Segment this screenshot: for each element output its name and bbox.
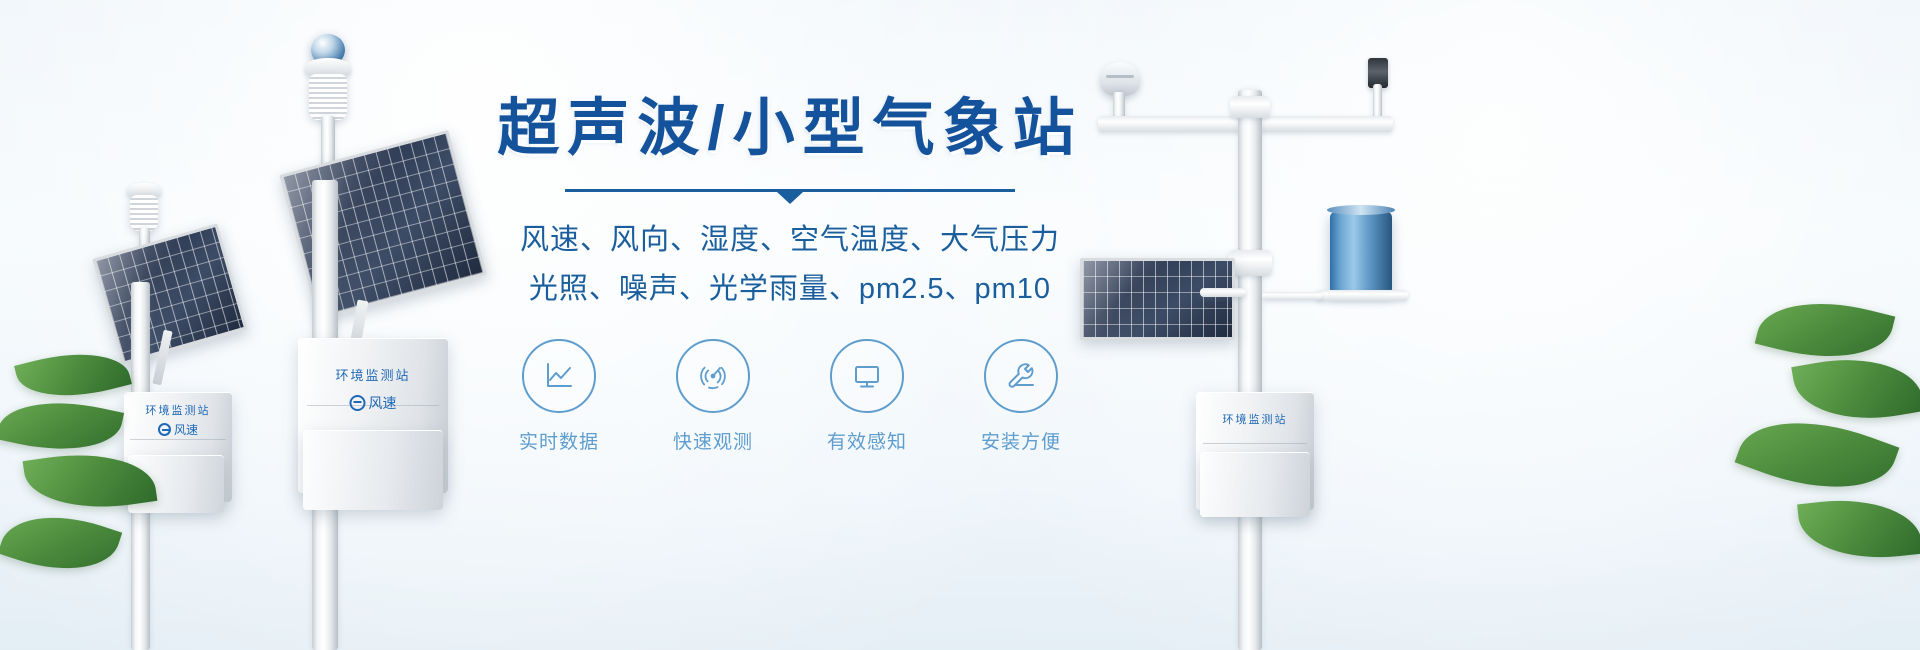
cabinet-seam	[1203, 443, 1307, 444]
feature-item-effective-sensing[interactable]: 有效感知	[811, 339, 923, 454]
ultrasonic-wind-sensor-right	[1100, 62, 1140, 96]
line-chart-icon	[541, 358, 577, 394]
subtitle-line-1: 风速、风向、湿度、空气温度、大气压力	[440, 217, 1140, 264]
rain-gauge-arm-right	[1262, 292, 1322, 300]
feature-icon-wrap	[676, 339, 750, 413]
cabinet-brand-left: 风速	[158, 421, 198, 438]
panel-arm-right	[1200, 288, 1246, 297]
divider-triangle-icon	[777, 192, 803, 204]
feature-list: 实时数据 快速观测	[440, 339, 1140, 454]
feature-label: 实时数据	[503, 427, 615, 454]
cabinet-label-center: 环境监测站	[335, 365, 410, 384]
feature-item-realtime-data[interactable]: 实时数据	[503, 339, 615, 454]
page-title: 超声波/小型气象站	[440, 96, 1140, 161]
brand-mark-icon	[350, 395, 366, 411]
feature-icon-wrap	[522, 339, 596, 413]
feature-label: 安装方便	[965, 427, 1077, 454]
rain-gauge-shelf-right	[1316, 290, 1408, 301]
brand-text-center: 风速	[369, 393, 397, 413]
main-pole-right	[1238, 90, 1262, 650]
radiation-shield-left	[130, 195, 158, 231]
feature-item-easy-installation[interactable]: 安装方便	[965, 339, 1077, 454]
feature-label: 有效感知	[811, 427, 923, 454]
banner-content: 超声波/小型气象站 风速、风向、湿度、空气温度、大气压力 光照、噪声、光学雨量、…	[440, 96, 1140, 454]
cabinet-lower-center	[303, 430, 443, 510]
subtitle-line-2: 光照、噪声、光学雨量、pm2.5、pm10	[440, 266, 1140, 313]
cabinet-label-left: 环境监测站	[146, 402, 211, 418]
cabinet-seam	[130, 439, 225, 440]
feature-icon-wrap	[830, 339, 904, 413]
feature-label: 快速观测	[657, 427, 769, 454]
monitor-icon	[849, 358, 885, 394]
radiation-shield-center	[309, 74, 347, 120]
cabinet-brand-center: 风速	[350, 393, 397, 413]
product-banner: 环境监测站 风速 环境监测站 风速	[0, 0, 1920, 650]
cabinet-label-right: 环境监测站	[1223, 411, 1288, 427]
pole-collar-top-right	[1230, 96, 1270, 118]
radar-sensing-icon	[695, 358, 731, 394]
divider	[565, 187, 1015, 201]
feature-item-fast-observation[interactable]: 快速观测	[657, 339, 769, 454]
brand-mark-icon	[158, 423, 171, 436]
brand-text-left: 风速	[174, 421, 198, 438]
wrench-icon	[1003, 358, 1039, 394]
feature-icon-wrap	[984, 339, 1058, 413]
rain-gauge-right	[1330, 212, 1392, 292]
cabinet-lower-right	[1200, 452, 1310, 517]
